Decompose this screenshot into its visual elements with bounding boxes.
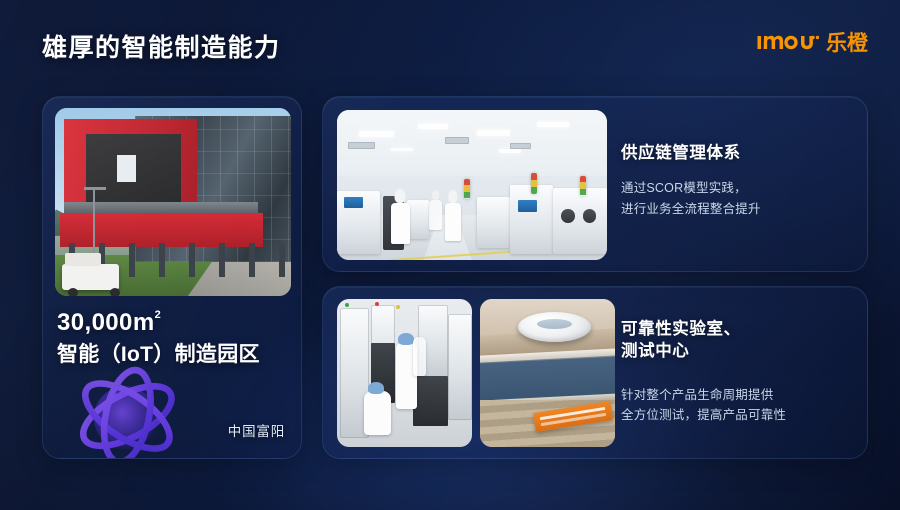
ceiling-light [418, 124, 448, 129]
slide-root: 雄厚的智能制造能力 乐橙 [0, 0, 900, 510]
machine-display [344, 197, 363, 208]
production-machine [407, 200, 429, 239]
facility-area-unit: m [133, 309, 155, 336]
facility-card[interactable]: 30,000m2 智能（IoT）制造园区 中国富阳 [42, 96, 302, 459]
supply-chain-body-line-1: 通过SCOR模型实践， [621, 178, 851, 198]
ceiling-light [477, 130, 509, 136]
lab-technician-background [413, 337, 427, 375]
robot-vacuum-test-photo [480, 299, 615, 447]
robot-vacuum [518, 312, 591, 342]
technician-cap [368, 382, 384, 394]
facility-location-label: 中国富阳 [228, 420, 285, 440]
andon-light-tower [464, 179, 470, 199]
photo-white-window [117, 155, 136, 182]
ceiling-light [537, 122, 569, 127]
factory-worker [391, 203, 410, 244]
reliability-lab-body-line-2: 全方位测试，提高产品可靠性 [621, 405, 851, 425]
page-title: 雄厚的智能制造能力 [42, 28, 281, 64]
factory-worker [429, 200, 443, 230]
status-led-amber [396, 305, 400, 309]
technician-cap [398, 333, 414, 345]
facility-building-photo [55, 108, 291, 296]
facility-area-value: 30,000m2 [57, 308, 293, 338]
ceiling-vent [445, 137, 469, 144]
andon-light-tower [580, 176, 586, 196]
reliability-lab-card[interactable]: 可靠性实验室、 测试中心 针对整个产品生命周期提供 全方位测试，提高产品可靠性 [322, 286, 868, 459]
reliability-lab-body: 针对整个产品生命周期提供 全方位测试，提高产品可靠性 [621, 385, 851, 426]
andon-light-tower [531, 173, 537, 194]
reliability-lab-heading-line-1: 可靠性实验室、 [621, 320, 741, 338]
atom-orbit-decoration [67, 358, 199, 459]
brand-chinese-name: 乐橙 [826, 33, 868, 54]
brand-logo: 乐橙 [757, 28, 868, 56]
facility-stat-block: 30,000m2 智能（IoT）制造园区 [57, 308, 293, 368]
cleanroom-photo [337, 110, 607, 260]
production-machine [477, 197, 509, 248]
photo-red-band [60, 213, 263, 247]
status-led-green [345, 303, 349, 307]
production-machine [553, 188, 607, 254]
lab-equipment-dark [413, 376, 448, 426]
facility-area-unit-exponent: 2 [155, 309, 162, 321]
machine-dial [583, 209, 597, 223]
lab-technician-crouching [364, 391, 391, 435]
supply-chain-text: 供应链管理体系 通过SCOR模型实践， 进行业务全流程整合提升 [621, 142, 851, 219]
ceiling-light [359, 131, 394, 137]
ceiling-light [391, 148, 413, 152]
lab-technicians-photo [337, 299, 472, 447]
machine-display [518, 200, 537, 212]
ceiling-light [499, 149, 521, 153]
supply-chain-heading: 供应链管理体系 [621, 142, 851, 164]
status-led-red [375, 302, 379, 306]
supply-chain-card[interactable]: 供应链管理体系 通过SCOR模型实践， 进行业务全流程整合提升 [322, 96, 868, 272]
photo-light-pole [93, 187, 95, 262]
ceiling-vent [510, 143, 532, 149]
imou-wordmark-icon [757, 31, 819, 53]
cleanroom-ceiling [337, 110, 607, 176]
supply-chain-body-line-2: 进行业务全流程整合提升 [621, 199, 851, 219]
reliability-lab-body-line-1: 针对整个产品生命周期提供 [621, 385, 851, 405]
reliability-lab-heading-line-2: 测试中心 [621, 340, 851, 362]
machine-dial [561, 209, 575, 223]
facility-area-label: 智能（IoT）制造园区 [57, 341, 293, 368]
reliability-lab-heading: 可靠性实验室、 测试中心 [621, 318, 851, 363]
production-machine [510, 185, 553, 254]
supply-chain-body: 通过SCOR模型实践， 进行业务全流程整合提升 [621, 178, 851, 219]
factory-worker [445, 203, 461, 241]
ceiling-vent [348, 142, 375, 150]
facility-area-number: 30,000 [57, 309, 133, 336]
lab-equipment-rack [448, 314, 472, 421]
reliability-lab-text: 可靠性实验室、 测试中心 针对整个产品生命周期提供 全方位测试，提高产品可靠性 [621, 318, 851, 425]
photo-golf-cart [62, 264, 119, 290]
